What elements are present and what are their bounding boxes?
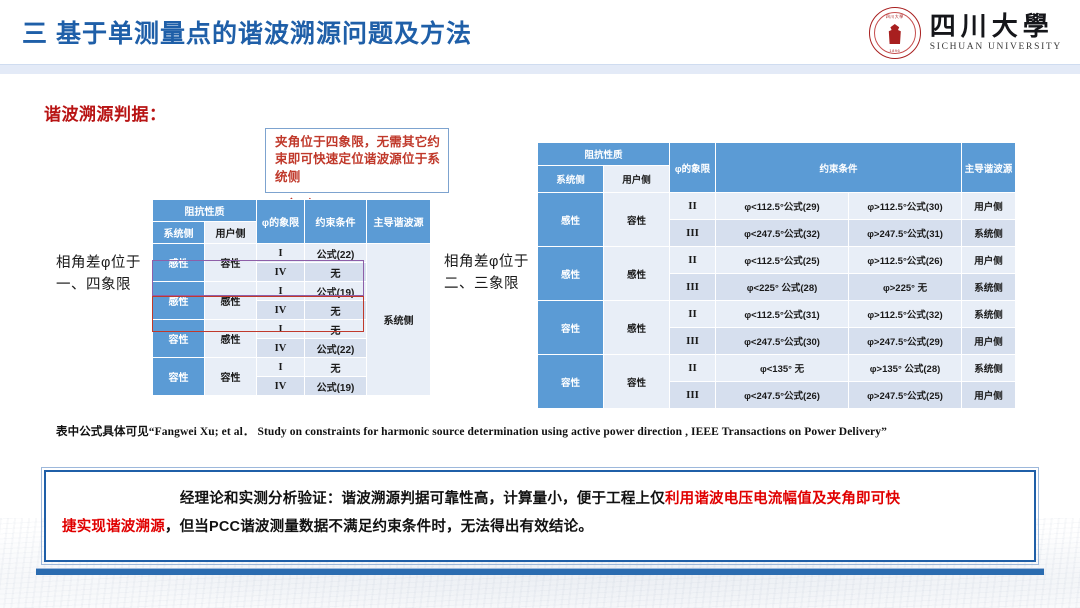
cell-system-side: 容性 (153, 358, 205, 396)
cell-constraint: 无 (305, 263, 367, 282)
cell-constraint-b: φ>112.5°公式(32) (849, 301, 962, 328)
header-constraint: 约束条件 (716, 143, 962, 193)
cell-dominant-source: 用户侧 (962, 193, 1016, 220)
logo-name-en: SICHUAN UNIVERSITY (930, 43, 1062, 53)
cell-system-side: 感性 (153, 244, 205, 282)
conclusion-line-2: 捷实现谐波溯源，但当PCC谐波测量数据不满足约束条件时，无法得出有效结论。 (62, 514, 1018, 542)
cell-constraint-b: φ>225° 无 (849, 274, 962, 301)
cell-quadrant: IV (257, 377, 305, 396)
cell-quadrant: III (670, 328, 716, 355)
university-seal-icon: 四川大學 1896 (869, 7, 921, 59)
cell-constraint-b: φ>247.5°公式(25) (849, 382, 962, 409)
cell-dominant-source: 系统侧 (367, 244, 431, 396)
cell-user-side: 容性 (604, 355, 670, 409)
cell-constraint-a: φ<112.5°公式(29) (716, 193, 849, 220)
cell-user-side: 容性 (604, 193, 670, 247)
cell-constraint: 公式(22) (305, 339, 367, 358)
cell-constraint-b: φ>112.5°公式(26) (849, 247, 962, 274)
cell-user-side: 感性 (604, 247, 670, 301)
seal-bottom-text: 1896 (870, 48, 920, 53)
cell-constraint-b: φ>247.5°公式(29) (849, 328, 962, 355)
header-system-side: 系统侧 (538, 166, 604, 193)
header-impedance-group: 阻抗性质 (538, 143, 670, 166)
citation-text: 表中公式具体可见“Fangwei Xu; et al． Study on con… (56, 423, 1036, 439)
cell-constraint-a: φ<112.5°公式(31) (716, 301, 849, 328)
cell-constraint: 无 (305, 320, 367, 339)
table-row: 容性感性IIφ<112.5°公式(31)φ>112.5°公式(32)系统侧 (538, 301, 1016, 328)
cell-quadrant: III (670, 274, 716, 301)
cell-quadrant: IV (257, 301, 305, 320)
cell-dominant-source: 用户侧 (962, 328, 1016, 355)
conclusion-line-2-emphasis: 捷实现谐波溯源 (62, 519, 165, 535)
header-quadrant: φ的象限 (257, 200, 305, 244)
cell-dominant-source: 用户侧 (962, 247, 1016, 274)
label-phase-diff-left: 相角差φ位于一、四象限 (56, 253, 148, 297)
page-title: 三 基于单测量点的谐波溯源问题及方法 (22, 14, 472, 50)
table-row: 感性感性IIφ<112.5°公式(25)φ>112.5°公式(26)用户侧 (538, 247, 1016, 274)
cell-system-side: 容性 (153, 320, 205, 358)
table-row: 容性容性IIφ<135° 无φ>135° 公式(28)系统侧 (538, 355, 1016, 382)
cell-dominant-source: 系统侧 (962, 301, 1016, 328)
conclusion-line-1: 经理论和实测分析验证：谐波溯源判据可靠性高，计算量小，便于工程上仅利用谐波电压电… (62, 486, 1018, 514)
cell-quadrant: I (257, 244, 305, 263)
conclusion-line-1-plain: 经理论和实测分析验证：谐波溯源判据可靠性高，计算量小，便于工程上仅 (180, 491, 665, 507)
table-left-quadrant-1-4: 阻抗性质φ的象限约束条件主导谐波源系统侧用户侧感性容性I公式(22)系统侧IV无… (152, 199, 431, 396)
cell-constraint-a: φ<225° 公式(28) (716, 274, 849, 301)
table-left-header-row-1: 阻抗性质φ的象限约束条件主导谐波源 (153, 200, 431, 222)
table-right-header-row-1: 阻抗性质φ的象限约束条件主导谐波源 (538, 143, 1016, 166)
cell-quadrant: II (670, 193, 716, 220)
section-heading: 谐波溯源判据： (44, 100, 167, 125)
cell-constraint-a: φ<112.5°公式(25) (716, 247, 849, 274)
callout-note: 夹角位于四象限，无需其它约束即可快速定位谐波源位于系统侧 (265, 128, 449, 193)
cell-constraint-a: φ<247.5°公式(32) (716, 220, 849, 247)
table-right-quadrant-2-3: 阻抗性质φ的象限约束条件主导谐波源系统侧用户侧感性容性IIφ<112.5°公式(… (537, 142, 1016, 409)
header-system-side: 系统侧 (153, 222, 205, 244)
cell-constraint: 公式(22) (305, 244, 367, 263)
cell-constraint-b: φ>247.5°公式(31) (849, 220, 962, 247)
cell-dominant-source: 系统侧 (962, 220, 1016, 247)
header-impedance-group: 阻抗性质 (153, 200, 257, 222)
conclusion-line-1-emphasis: 利用谐波电压电流幅值及夹角即可快 (665, 491, 900, 507)
cell-quadrant: IV (257, 339, 305, 358)
cell-constraint: 无 (305, 358, 367, 377)
conclusion-box: 经理论和实测分析验证：谐波溯源判据可靠性高，计算量小，便于工程上仅利用谐波电压电… (44, 470, 1036, 562)
slide-root: 三 基于单测量点的谐波溯源问题及方法 四川大學 1896 四川大學 SICHUA… (0, 0, 1080, 608)
cell-system-side: 感性 (538, 193, 604, 247)
cell-quadrant: III (670, 382, 716, 409)
header-dominant: 主导谐波源 (367, 200, 431, 244)
cell-constraint: 公式(19) (305, 377, 367, 396)
cell-constraint-a: φ<247.5°公式(30) (716, 328, 849, 355)
header-constraint: 约束条件 (305, 200, 367, 244)
cell-quadrant: IV (257, 263, 305, 282)
university-logo: 四川大學 1896 四川大學 SICHUAN UNIVERSITY (869, 6, 1062, 60)
table-row: 感性容性I公式(22)系统侧 (153, 244, 431, 263)
cell-user-side: 感性 (205, 320, 257, 358)
bottom-accent-bar (36, 568, 1044, 575)
seal-emblem-icon (885, 24, 905, 44)
slide-header: 三 基于单测量点的谐波溯源问题及方法 四川大學 1896 四川大學 SICHUA… (0, 0, 1080, 64)
cell-quadrant: I (257, 320, 305, 339)
cell-quadrant: I (257, 282, 305, 301)
cell-constraint-a: φ<247.5°公式(26) (716, 382, 849, 409)
cell-dominant-source: 系统侧 (962, 274, 1016, 301)
cell-system-side: 容性 (538, 301, 604, 355)
cell-system-side: 感性 (153, 282, 205, 320)
cell-dominant-source: 用户侧 (962, 382, 1016, 409)
header-user-side: 用户侧 (604, 166, 670, 193)
cell-user-side: 感性 (604, 301, 670, 355)
cell-constraint-b: φ>135° 公式(28) (849, 355, 962, 382)
cell-constraint-a: φ<135° 无 (716, 355, 849, 382)
header-divider (0, 64, 1080, 75)
logo-text-block: 四川大學 SICHUAN UNIVERSITY (930, 14, 1062, 53)
table-row: 感性容性IIφ<112.5°公式(29)φ>112.5°公式(30)用户侧 (538, 193, 1016, 220)
cell-quadrant: II (670, 355, 716, 382)
cell-quadrant: II (670, 301, 716, 328)
cell-user-side: 容性 (205, 358, 257, 396)
header-quadrant: φ的象限 (670, 143, 716, 193)
cell-constraint: 无 (305, 301, 367, 320)
cell-user-side: 容性 (205, 244, 257, 282)
cell-constraint: 公式(19) (305, 282, 367, 301)
cell-system-side: 容性 (538, 355, 604, 409)
cell-user-side: 感性 (205, 282, 257, 320)
cell-quadrant: II (670, 247, 716, 274)
logo-name-cn: 四川大學 (930, 14, 1062, 40)
label-phase-diff-middle: 相角差φ位于二、三象限 (444, 252, 530, 296)
cell-quadrant: III (670, 220, 716, 247)
cell-dominant-source: 系统侧 (962, 355, 1016, 382)
cell-constraint-b: φ>112.5°公式(30) (849, 193, 962, 220)
header-user-side: 用户侧 (205, 222, 257, 244)
cell-quadrant: I (257, 358, 305, 377)
header-dominant: 主导谐波源 (962, 143, 1016, 193)
seal-top-text: 四川大學 (870, 14, 920, 20)
cell-system-side: 感性 (538, 247, 604, 301)
conclusion-line-2-plain: ，但当PCC谐波测量数据不满足约束条件时，无法得出有效结论。 (165, 519, 593, 535)
